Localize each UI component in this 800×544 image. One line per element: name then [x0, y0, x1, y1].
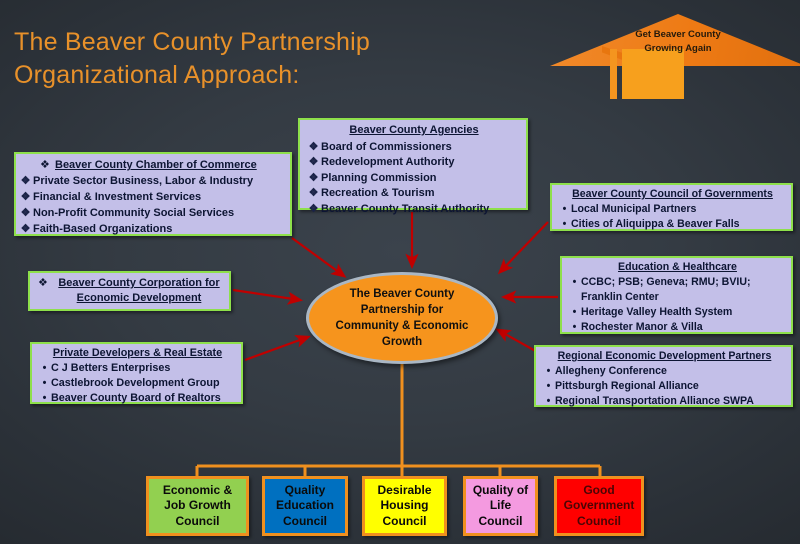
list-item-label: Heritage Valley Health System [581, 305, 787, 320]
council-box-label: Quality of Life Council [473, 483, 528, 530]
arrow-chamber-to-hub [292, 238, 344, 276]
list-item-label: Allegheny Conference [555, 364, 787, 379]
partner-box-education-list: •CCBC; PSB; Geneva; RMU; BVIU; Franklin … [568, 275, 787, 335]
partner-box-education-healthcare[interactable]: Education & Healthcare •CCBC; PSB; Genev… [560, 256, 793, 334]
list-item: •Heritage Valley Health System [568, 305, 787, 320]
council-line-2: Housing [381, 498, 429, 512]
council-box-desirable-housing[interactable]: Desirable Housing Council [362, 476, 447, 536]
dot-bullet-icon: • [558, 217, 571, 232]
council-box-label: Quality Education Council [276, 483, 334, 530]
diamond-bullet-icon: ❖ [18, 173, 33, 189]
list-item-label: Planning Commission [321, 171, 522, 187]
list-item-label: Beaver County Transit Authority [321, 202, 522, 218]
council-box-economic-job-growth[interactable]: Economic & Job Growth Council [146, 476, 249, 536]
list-item: •Allegheny Conference [542, 364, 787, 379]
council-line-2: Education [276, 498, 334, 512]
list-item: ❖Faith-Based Organizations [18, 221, 286, 237]
diamond-bullet-icon: ❖ [306, 202, 321, 218]
council-line-2: Life [490, 498, 511, 512]
council-line-3: Council [175, 514, 219, 528]
council-box-good-government[interactable]: Good Government Council [554, 476, 644, 536]
list-item-label: Private Sector Business, Labor & Industr… [33, 173, 286, 189]
logo-block-icon [622, 49, 684, 99]
council-line-1: Good [583, 483, 614, 497]
council-box-quality-education[interactable]: Quality Education Council [262, 476, 348, 536]
diamond-bullet-icon: ❖ [38, 276, 53, 291]
arrow-developers-to-hub [245, 337, 308, 360]
arrow-bced-to-hub [233, 290, 300, 300]
council-box-label: Desirable Housing Council [377, 483, 431, 530]
diamond-bullet-icon: ❖ [306, 171, 321, 187]
page-title-line-2: Organizational Approach: [14, 59, 534, 92]
list-item-label: Recreation & Tourism [321, 186, 522, 202]
dot-bullet-icon: • [568, 305, 581, 320]
council-line-1: Quality [285, 483, 326, 497]
arrow-cog-to-hub [500, 222, 548, 272]
list-item-label: Castlebrook Development Group [51, 376, 237, 391]
partner-box-agencies[interactable]: Beaver County Agencies ❖Board of Commiss… [298, 118, 528, 210]
partner-box-developers-header: Private Developers & Real Estate [38, 346, 237, 361]
list-item: •Cities of Aliquippa & Beaver Falls [558, 217, 787, 232]
council-line-3: Council [577, 514, 621, 528]
partner-box-regional-list: •Allegheny Conference •Pittsburgh Region… [542, 364, 787, 409]
list-item: •C J Betters Enterprises [38, 361, 237, 376]
list-item: ❖Board of Commissioners [306, 140, 522, 156]
list-item: ❖Non-Profit Community Social Services [18, 205, 286, 221]
logo-tagline: Get Beaver County Growing Again [576, 28, 780, 55]
list-item-label: Regional Transportation Alliance SWPA [555, 394, 787, 409]
list-item: ❖Beaver County Transit Authority [306, 202, 522, 218]
list-item: •Pittsburgh Regional Alliance [542, 379, 787, 394]
list-item: ❖Recreation & Tourism [306, 186, 522, 202]
dot-bullet-icon: • [38, 391, 51, 406]
partner-box-regional-header: Regional Economic Development Partners [542, 349, 787, 364]
central-hub-line-3: Community & Economic [336, 320, 469, 332]
council-box-label: Economic & Job Growth Council [163, 483, 232, 530]
slide-canvas: The Beaver County Partnership Organizati… [0, 0, 800, 544]
diamond-bullet-icon: ❖ [40, 157, 55, 173]
logo-tagline-line-1: Get Beaver County [635, 29, 721, 40]
partner-box-chamber-header-row: ❖ Beaver County Chamber of Commerce [18, 157, 286, 173]
partner-box-bced-header: Beaver County Corporation for Economic D… [53, 276, 225, 306]
list-item-label: Board of Commissioners [321, 140, 522, 156]
list-item-label: Local Municipal Partners [571, 202, 787, 217]
partner-box-agencies-list: ❖Board of Commissioners ❖Redevelopment A… [306, 140, 522, 218]
council-line-2: Job Growth [164, 498, 231, 512]
list-item: •Beaver County Board of Realtors [38, 391, 237, 406]
central-hub-line-4: Growth [382, 336, 422, 348]
central-hub-line-2: Partnership for [361, 304, 443, 316]
list-item-label: Rochester Manor & Villa [581, 320, 787, 335]
list-item-label: Non-Profit Community Social Services [33, 205, 286, 221]
dot-bullet-icon: • [568, 320, 581, 335]
list-item: •Castlebrook Development Group [38, 376, 237, 391]
diamond-bullet-icon: ❖ [306, 186, 321, 202]
partner-box-chamber-header: Beaver County Chamber of Commerce [55, 157, 257, 173]
logo-tagline-line-2: Growing Again [644, 43, 711, 54]
page-title: The Beaver County Partnership Organizati… [14, 26, 534, 92]
council-line-1: Quality of [473, 483, 528, 497]
logo-bar-icon [610, 49, 617, 99]
partner-box-private-developers[interactable]: Private Developers & Real Estate •C J Be… [30, 342, 243, 404]
list-item-label: Pittsburgh Regional Alliance [555, 379, 787, 394]
list-item-label: CCBC; PSB; Geneva; RMU; BVIU; Franklin C… [581, 275, 787, 305]
list-item: ❖Financial & Investment Services [18, 189, 286, 205]
list-item-label: Redevelopment Authority [321, 155, 522, 171]
logo: Get Beaver County Growing Again [540, 2, 800, 110]
council-line-1: Economic & [163, 483, 232, 497]
partner-box-regional-partners[interactable]: Regional Economic Development Partners •… [534, 345, 793, 407]
diamond-bullet-icon: ❖ [306, 155, 321, 171]
diamond-bullet-icon: ❖ [18, 205, 33, 221]
dot-bullet-icon: • [38, 376, 51, 391]
list-item: •Rochester Manor & Villa [568, 320, 787, 335]
list-item: ❖Planning Commission [306, 171, 522, 187]
council-box-label: Good Government Council [564, 483, 635, 530]
dot-bullet-icon: • [38, 361, 51, 376]
page-title-line-1: The Beaver County Partnership [14, 28, 370, 56]
partner-box-agencies-header: Beaver County Agencies [306, 123, 522, 139]
central-hub-label: The Beaver County Partnership for Commun… [328, 286, 477, 350]
list-item-label: Faith-Based Organizations [33, 221, 286, 237]
council-line-3: Council [383, 514, 427, 528]
list-item: ❖Private Sector Business, Labor & Indust… [18, 173, 286, 189]
dot-bullet-icon: • [542, 364, 555, 379]
partner-box-bced[interactable]: ❖ Beaver County Corporation for Economic… [28, 271, 231, 311]
central-hub-line-1: The Beaver County [350, 288, 455, 300]
partner-box-council-of-governments[interactable]: Beaver County Council of Governments •Lo… [550, 183, 793, 231]
partner-box-chamber[interactable]: ❖ Beaver County Chamber of Commerce ❖Pri… [14, 152, 292, 236]
central-hub[interactable]: The Beaver County Partnership for Commun… [306, 272, 498, 364]
list-item: ❖Redevelopment Authority [306, 155, 522, 171]
diamond-bullet-icon: ❖ [18, 189, 33, 205]
list-item: •Local Municipal Partners [558, 202, 787, 217]
diamond-bullet-icon: ❖ [306, 140, 321, 156]
list-item: •Regional Transportation Alliance SWPA [542, 394, 787, 409]
partner-box-education-header: Education & Healthcare [568, 260, 787, 275]
dot-bullet-icon: • [542, 379, 555, 394]
dot-bullet-icon: • [558, 202, 571, 217]
partner-box-developers-list: •C J Betters Enterprises •Castlebrook De… [38, 361, 237, 406]
partner-box-cog-header: Beaver County Council of Governments [558, 187, 787, 202]
list-item-label: Beaver County Board of Realtors [51, 391, 237, 406]
council-line-3: Council [479, 514, 523, 528]
council-box-quality-of-life[interactable]: Quality of Life Council [463, 476, 538, 536]
council-line-1: Desirable [377, 483, 431, 497]
list-item: •CCBC; PSB; Geneva; RMU; BVIU; Franklin … [568, 275, 787, 305]
council-line-3: Council [283, 514, 327, 528]
partner-box-cog-list: •Local Municipal Partners •Cities of Ali… [558, 202, 787, 232]
list-item-label: Cities of Aliquippa & Beaver Falls [571, 217, 787, 232]
diamond-bullet-icon: ❖ [18, 221, 33, 237]
partner-box-chamber-list: ❖Private Sector Business, Labor & Indust… [18, 173, 286, 237]
partner-box-bced-header-row: ❖ Beaver County Corporation for Economic… [32, 276, 225, 306]
dot-bullet-icon: • [542, 394, 555, 409]
dot-bullet-icon: • [568, 275, 581, 290]
list-item-label: Financial & Investment Services [33, 189, 286, 205]
list-item-label: C J Betters Enterprises [51, 361, 237, 376]
council-line-2: Government [564, 498, 635, 512]
